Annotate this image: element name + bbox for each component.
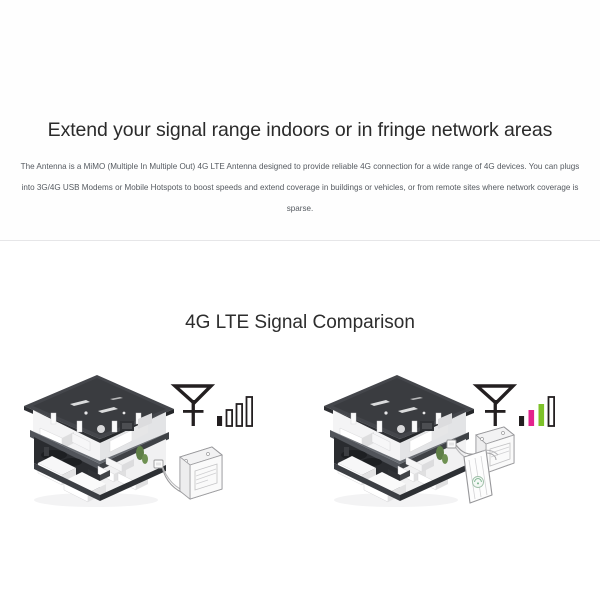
signal-bar-3 [539,404,545,426]
signal-bar-2 [227,410,233,426]
antenna-icon [175,386,211,426]
device-without-antenna [150,439,230,529]
signal-bars-icon [174,380,254,432]
comparison-panels [0,361,600,561]
product-detail-page: Extend your signal range indoors or in f… [0,0,600,600]
signal-bar-2 [529,410,535,426]
comparison-section: 4G LTE Signal Comparison [0,241,600,600]
signal-bar-4 [549,397,555,426]
page-title: Extend your signal range indoors or in f… [0,119,600,142]
comparison-panel-with-antenna [300,361,600,561]
signal-bar-3 [237,404,243,426]
comparison-panel-without-antenna [0,361,300,561]
device-with-antenna [442,423,522,513]
usb-modem-with-antenna-icon [442,423,522,513]
section-title: 4G LTE Signal Comparison [0,312,600,334]
hero-section: Extend your signal range indoors or in f… [0,0,600,241]
signal-indicator-weak [174,380,254,432]
signal-bar-1 [217,416,222,426]
antenna-icon [477,386,513,426]
bars-group [217,397,252,426]
signal-bar-4 [247,397,253,426]
bars-group [519,397,554,426]
hero-description: The Antenna is a MiMO (Multiple In Multi… [16,156,584,219]
usb-modem-icon [150,439,230,529]
